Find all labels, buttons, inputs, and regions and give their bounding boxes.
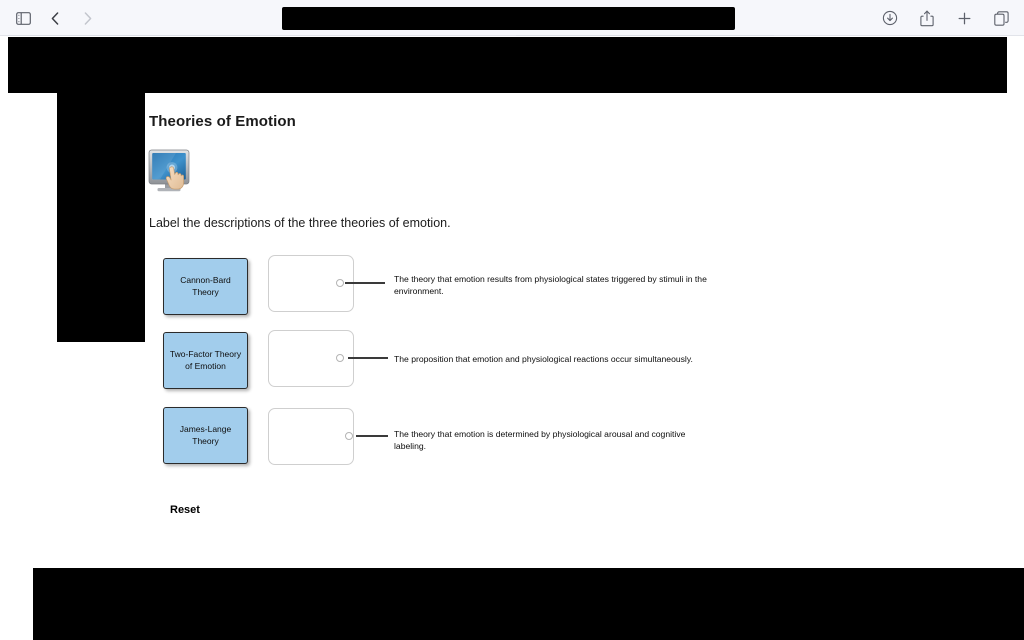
connector-dot-3 [345,432,353,440]
reset-button[interactable]: Reset [170,504,200,516]
browser-window: Theories of Emotion [0,0,1024,640]
address-bar[interactable] [282,7,735,30]
description-text-2: The proposition that emotion and physiol… [394,353,714,365]
back-button[interactable] [42,5,68,31]
dropzone-3[interactable] [268,408,354,465]
matching-exercise: Cannon-Bard Theory The theory that emoti… [0,36,1024,640]
downloads-button[interactable] [877,5,903,31]
forward-button[interactable] [74,5,100,31]
redaction-overlay-bottom [33,568,1024,640]
draggable-tile-james-lange[interactable]: James-Lange Theory [163,407,248,464]
toolbar-left-controls [10,0,100,36]
plus-icon [957,11,972,26]
page-content: Theories of Emotion [0,36,1024,640]
new-tab-button[interactable] [951,5,977,31]
redaction-overlay-left [57,92,145,342]
connector-line-1 [345,282,385,284]
sidebar-icon [16,12,31,25]
browser-toolbar [0,0,1024,36]
share-icon [920,10,934,27]
connector-line-3 [356,435,388,437]
toolbar-right-controls [877,0,1014,36]
tabs-icon [994,11,1009,26]
connector-dot-1 [336,279,344,287]
connector-dot-2 [336,354,344,362]
tab-overview-button[interactable] [988,5,1014,31]
share-button[interactable] [914,5,940,31]
description-text-1: The theory that emotion results from phy… [394,273,714,297]
description-text-3: The theory that emotion is determined by… [394,428,714,452]
sidebar-toggle-button[interactable] [10,5,36,31]
connector-line-2 [348,357,388,359]
redaction-overlay-top [8,37,1007,93]
draggable-tile-two-factor[interactable]: Two-Factor Theory of Emotion [163,332,248,389]
chevron-right-icon [81,11,94,26]
draggable-tile-cannon-bard[interactable]: Cannon-Bard Theory [163,258,248,315]
download-circle-icon [882,10,898,26]
chevron-left-icon [49,11,62,26]
